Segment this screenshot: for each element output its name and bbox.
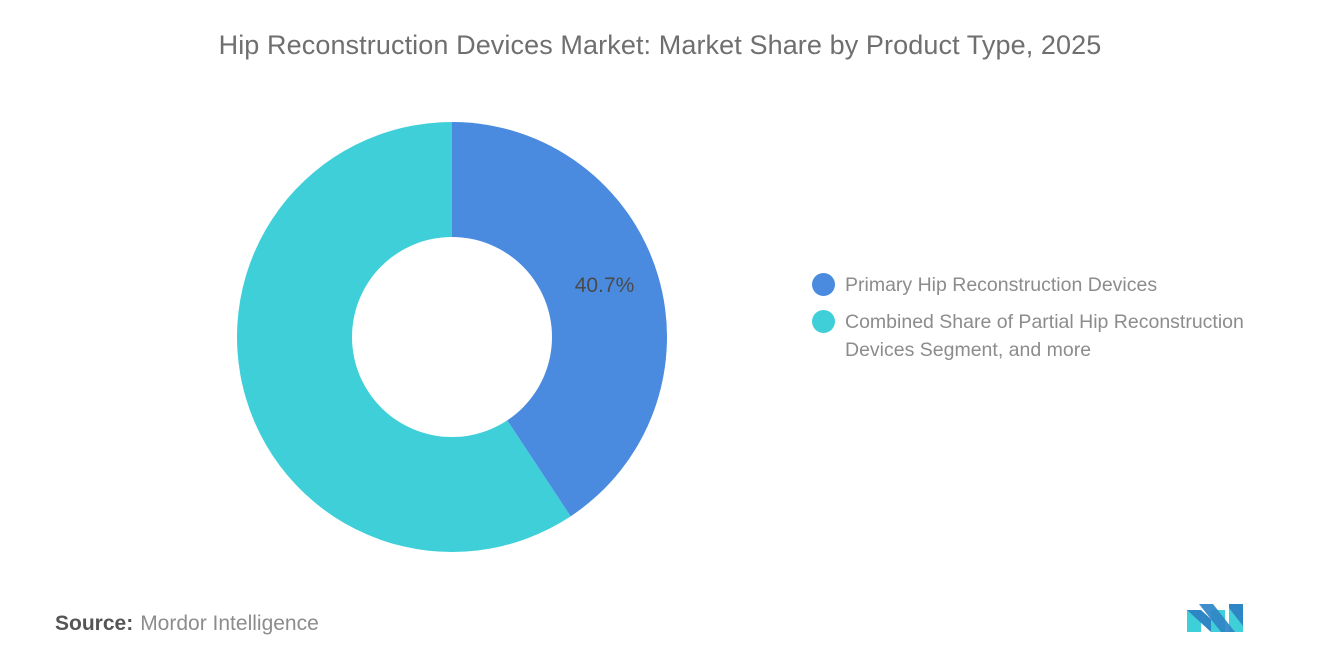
donut-chart: 40.7% [237,122,667,552]
legend-swatch-combined-icon [812,310,835,333]
logo-svg [1185,598,1251,638]
donut-hole [352,237,552,437]
legend-label-primary: Primary Hip Reconstruction Devices [845,271,1157,299]
chart-title: Hip Reconstruction Devices Market: Marke… [0,30,1320,61]
legend-label-combined: Combined Share of Partial Hip Reconstruc… [845,308,1290,364]
legend-item-primary[interactable]: Primary Hip Reconstruction Devices [812,271,1292,299]
chart-legend: Primary Hip Reconstruction Devices Combi… [812,271,1292,373]
source-value: Mordor Intelligence [140,612,319,635]
chart-canvas: Hip Reconstruction Devices Market: Marke… [0,0,1320,665]
mordor-intelligence-logo-icon [1185,598,1251,638]
legend-swatch-primary-icon [812,273,835,296]
donut-slice-label-primary: 40.7% [575,274,635,298]
source-label: Source: [55,612,133,635]
source-line: Source:Mordor Intelligence [55,612,319,636]
legend-item-combined[interactable]: Combined Share of Partial Hip Reconstruc… [812,308,1292,364]
donut-chart-svg [237,122,667,552]
